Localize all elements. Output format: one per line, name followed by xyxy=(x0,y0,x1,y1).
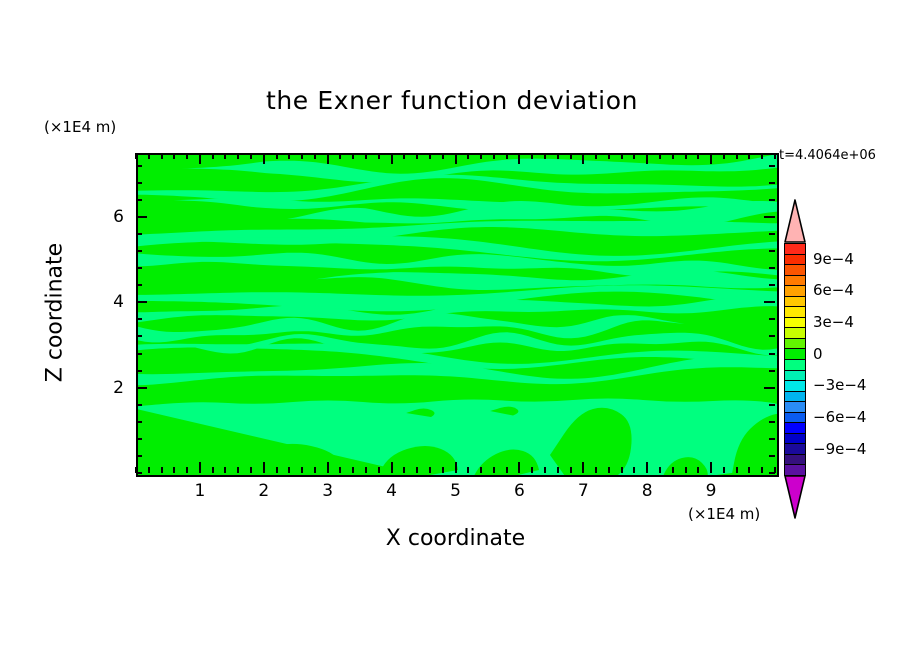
y-axis-tick xyxy=(136,250,142,252)
y-axis-tick xyxy=(136,165,142,167)
y-axis-tick xyxy=(769,284,775,286)
x-tick-label: 7 xyxy=(578,481,589,501)
x-axis-tick xyxy=(161,467,163,473)
x-axis-tick xyxy=(263,462,265,473)
x-axis-tick xyxy=(442,153,444,159)
y-axis-tick xyxy=(769,233,775,235)
x-axis-tick xyxy=(288,153,290,159)
y-tick-label: 4 xyxy=(84,292,124,312)
x-axis-tick xyxy=(339,467,341,473)
x-axis-tick xyxy=(748,467,750,473)
x-axis-tick xyxy=(327,462,329,473)
x-axis-tick xyxy=(314,467,316,473)
x-axis-tick xyxy=(263,153,265,164)
x-axis-tick xyxy=(723,153,725,159)
x-tick-label: 1 xyxy=(194,481,205,501)
x-axis-tick xyxy=(378,153,380,159)
x-axis-tick xyxy=(327,153,329,164)
colorbar-cap-bottom xyxy=(784,475,806,519)
x-axis-tick xyxy=(339,153,341,159)
y-axis-tick xyxy=(136,335,142,337)
x-axis-tick xyxy=(288,467,290,473)
y-axis-tick xyxy=(769,199,775,201)
x-axis-tick xyxy=(646,462,648,473)
x-axis-tick xyxy=(429,467,431,473)
x-axis-tick xyxy=(685,467,687,473)
x-axis-tick xyxy=(173,467,175,473)
y-axis-title: Z coordinate xyxy=(43,233,68,393)
colorbar-tick-label: 0 xyxy=(813,345,823,363)
x-tick-label: 2 xyxy=(258,481,269,501)
x-axis-tick xyxy=(672,153,674,159)
y-axis-unit-label: (×1E4 m) xyxy=(44,118,116,136)
x-axis-tick xyxy=(736,467,738,473)
x-axis-tick xyxy=(518,462,520,473)
x-axis-tick xyxy=(582,462,584,473)
x-axis-tick xyxy=(276,467,278,473)
x-axis-unit-label: (×1E4 m) xyxy=(688,505,760,523)
y-axis-tick xyxy=(136,182,142,184)
x-axis-tick xyxy=(493,153,495,159)
x-axis-tick xyxy=(391,462,393,473)
y-axis-tick xyxy=(136,216,147,218)
x-tick-label: 9 xyxy=(706,481,717,501)
x-axis-tick xyxy=(608,467,610,473)
y-axis-tick xyxy=(136,370,142,372)
x-axis-tick xyxy=(403,467,405,473)
x-axis-tick xyxy=(761,153,763,159)
x-axis-tick xyxy=(621,467,623,473)
x-axis-tick xyxy=(710,153,712,164)
y-axis-tick xyxy=(136,404,142,406)
x-axis-tick xyxy=(531,153,533,159)
x-axis-tick xyxy=(774,153,776,159)
x-axis-tick xyxy=(186,467,188,473)
y-axis-tick xyxy=(136,233,142,235)
x-axis-tick xyxy=(506,153,508,159)
colorbar-tick-label: 6e−4 xyxy=(813,281,854,299)
x-axis-tick xyxy=(710,462,712,473)
y-axis-tick xyxy=(769,335,775,337)
y-axis-tick xyxy=(769,250,775,252)
time-stamp-annotation: t=4.4064e+06 xyxy=(779,148,876,163)
x-axis-tick xyxy=(391,153,393,164)
x-axis-tick xyxy=(365,153,367,159)
x-axis-tick xyxy=(378,467,380,473)
colorbar-tick-label: −3e−4 xyxy=(813,376,866,394)
x-axis-tick xyxy=(250,467,252,473)
x-axis-tick xyxy=(748,153,750,159)
x-axis-tick xyxy=(672,467,674,473)
y-axis-tick xyxy=(136,438,142,440)
x-axis-tick xyxy=(212,153,214,159)
x-axis-tick xyxy=(646,153,648,164)
y-axis-tick xyxy=(136,284,142,286)
x-tick-label: 5 xyxy=(450,481,461,501)
y-axis-tick xyxy=(136,267,142,269)
x-axis-tick xyxy=(276,153,278,159)
x-axis-tick xyxy=(237,467,239,473)
x-axis-tick xyxy=(480,467,482,473)
y-axis-tick xyxy=(769,165,775,167)
x-axis-tick xyxy=(557,467,559,473)
y-axis-tick xyxy=(136,472,142,474)
y-axis-tick xyxy=(769,182,775,184)
y-axis-tick xyxy=(769,455,775,457)
x-axis-tick xyxy=(697,467,699,473)
y-axis-tick xyxy=(136,353,142,355)
x-axis-tick xyxy=(518,153,520,164)
x-tick-label: 6 xyxy=(514,481,525,501)
x-axis-tick xyxy=(467,153,469,159)
contour-plot-figure: the Exner function deviation (×1E4 m) (×… xyxy=(0,0,904,654)
x-axis-tick xyxy=(570,153,572,159)
x-axis-title: X coordinate xyxy=(136,526,775,551)
x-axis-tick xyxy=(237,153,239,159)
x-axis-tick xyxy=(633,153,635,159)
x-axis-tick xyxy=(467,467,469,473)
x-axis-tick xyxy=(595,467,597,473)
y-axis-tick xyxy=(764,387,775,389)
contour-field xyxy=(138,155,777,475)
y-axis-tick xyxy=(769,370,775,372)
x-axis-tick xyxy=(442,467,444,473)
x-axis-tick xyxy=(659,467,661,473)
x-axis-tick xyxy=(455,153,457,164)
x-axis-tick xyxy=(480,153,482,159)
x-axis-tick xyxy=(352,153,354,159)
y-axis-tick xyxy=(136,455,142,457)
x-axis-tick xyxy=(416,153,418,159)
x-axis-tick xyxy=(531,467,533,473)
y-axis-tick xyxy=(136,199,142,201)
x-axis-tick xyxy=(493,467,495,473)
x-axis-tick xyxy=(736,153,738,159)
colorbar-tick-label: 3e−4 xyxy=(813,313,854,331)
x-axis-tick xyxy=(723,467,725,473)
x-tick-label: 8 xyxy=(642,481,653,501)
x-axis-tick xyxy=(352,467,354,473)
x-axis-tick xyxy=(608,153,610,159)
x-axis-tick xyxy=(148,153,150,159)
x-axis-tick xyxy=(224,467,226,473)
y-axis-tick xyxy=(136,421,142,423)
colorbar-tick-label: 9e−4 xyxy=(813,250,854,268)
x-axis-tick xyxy=(314,153,316,159)
y-axis-tick xyxy=(136,301,147,303)
x-axis-tick xyxy=(199,462,201,473)
x-axis-tick xyxy=(697,153,699,159)
y-axis-tick xyxy=(769,472,775,474)
x-tick-label: 3 xyxy=(322,481,333,501)
colorbar-cap-top xyxy=(784,199,806,243)
y-axis-tick xyxy=(764,216,775,218)
x-axis-tick xyxy=(250,153,252,159)
y-axis-tick xyxy=(769,421,775,423)
colorbar xyxy=(784,243,806,475)
x-axis-tick xyxy=(212,467,214,473)
y-axis-tick xyxy=(769,438,775,440)
x-axis-tick xyxy=(403,153,405,159)
x-axis-tick xyxy=(685,153,687,159)
x-axis-tick xyxy=(416,467,418,473)
x-axis-tick xyxy=(570,467,572,473)
x-axis-tick xyxy=(659,153,661,159)
x-axis-tick xyxy=(161,153,163,159)
x-axis-tick xyxy=(557,153,559,159)
x-axis-tick xyxy=(595,153,597,159)
colorbar-tick-label: −6e−4 xyxy=(813,408,866,426)
y-axis-tick xyxy=(769,353,775,355)
y-axis-tick xyxy=(769,318,775,320)
x-axis-tick xyxy=(199,153,201,164)
y-tick-label: 2 xyxy=(84,378,124,398)
x-axis-tick xyxy=(544,153,546,159)
x-tick-label: 4 xyxy=(386,481,397,501)
plot-area xyxy=(136,153,779,477)
x-axis-tick xyxy=(301,153,303,159)
x-axis-tick xyxy=(582,153,584,164)
x-axis-tick xyxy=(301,467,303,473)
x-axis-tick xyxy=(186,153,188,159)
x-axis-tick xyxy=(544,467,546,473)
page-title: the Exner function deviation xyxy=(0,86,904,115)
x-axis-tick xyxy=(429,153,431,159)
x-axis-tick xyxy=(455,462,457,473)
x-axis-tick xyxy=(365,467,367,473)
x-axis-tick xyxy=(173,153,175,159)
colorbar-tick-label: −9e−4 xyxy=(813,440,866,458)
y-axis-tick xyxy=(764,301,775,303)
x-axis-tick xyxy=(621,153,623,159)
x-axis-tick xyxy=(506,467,508,473)
y-tick-label: 6 xyxy=(84,207,124,227)
x-axis-tick xyxy=(761,467,763,473)
x-axis-tick xyxy=(224,153,226,159)
x-axis-tick xyxy=(633,467,635,473)
x-axis-tick xyxy=(135,153,137,159)
y-axis-tick xyxy=(136,387,147,389)
x-axis-tick xyxy=(148,467,150,473)
y-axis-tick xyxy=(769,404,775,406)
y-axis-tick xyxy=(769,267,775,269)
y-axis-tick xyxy=(136,318,142,320)
